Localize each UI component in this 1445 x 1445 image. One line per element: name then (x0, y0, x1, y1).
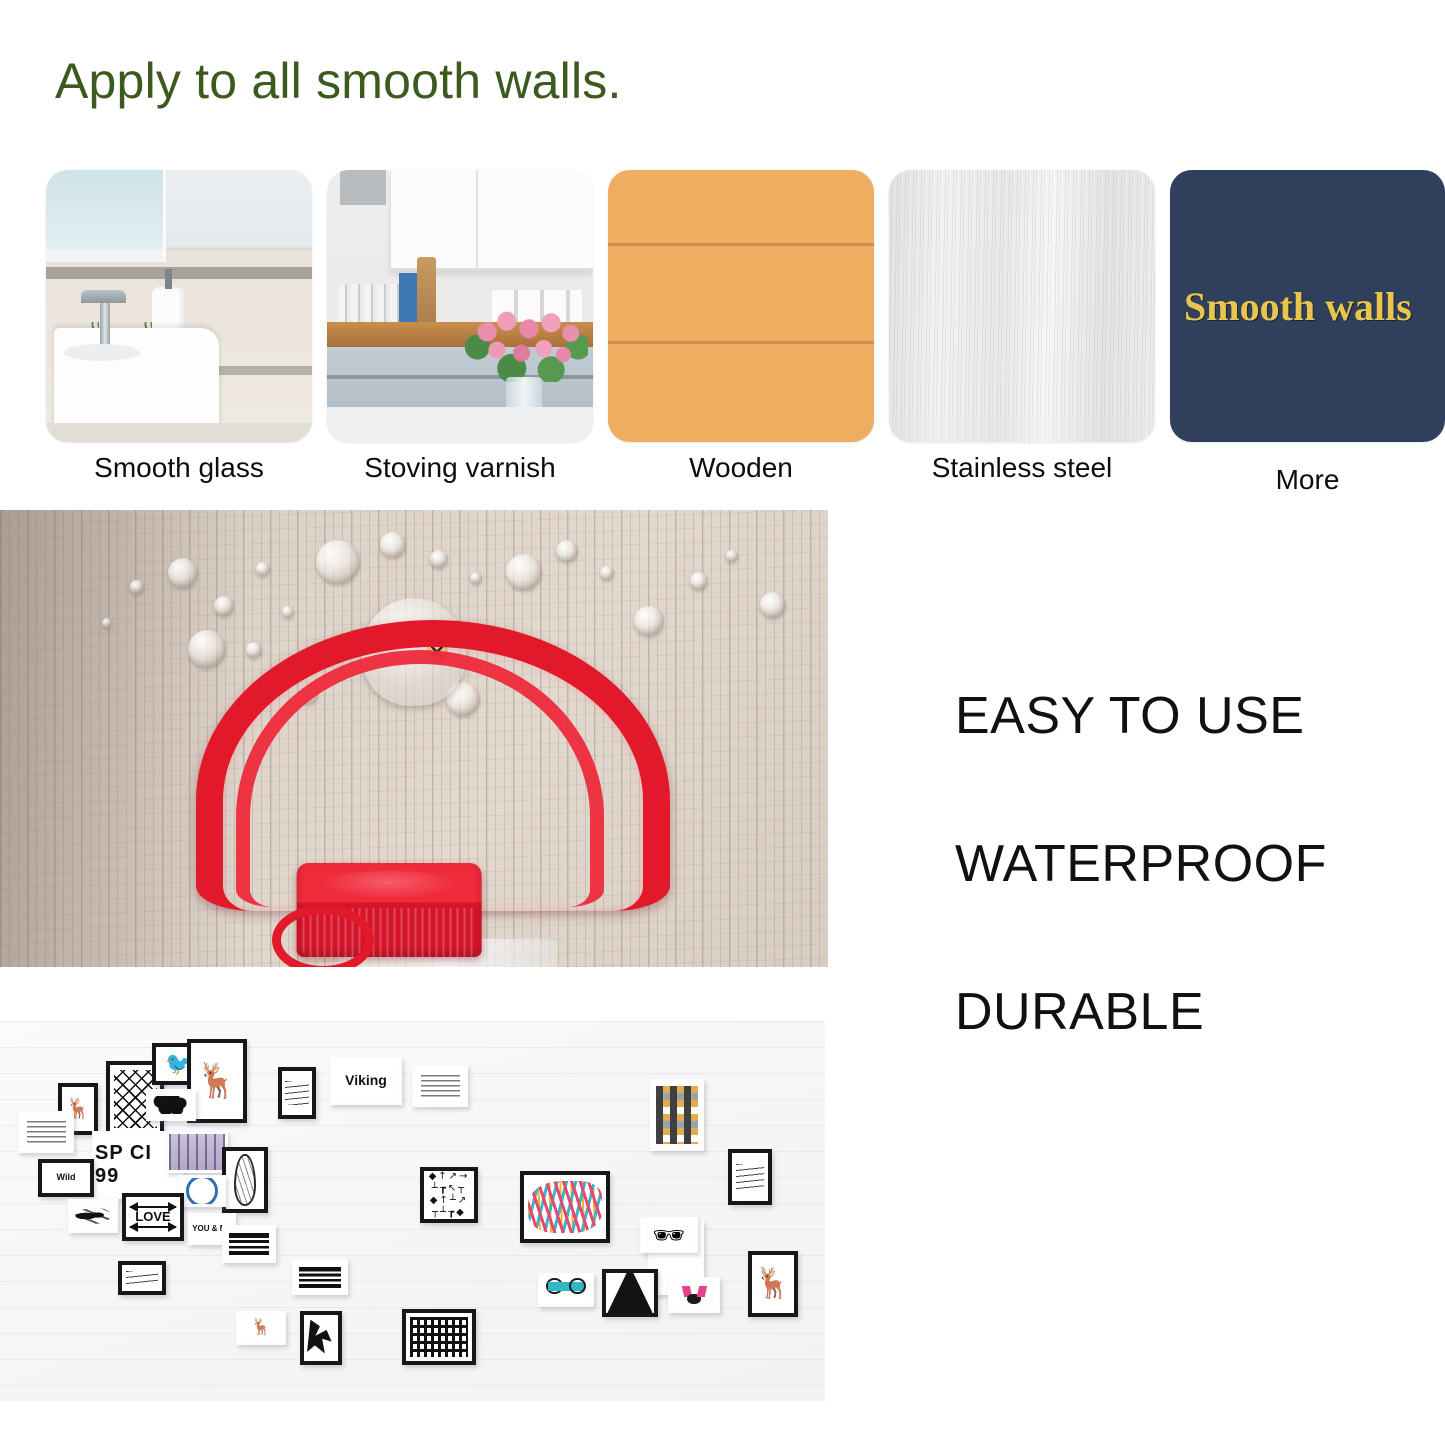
benefit-item: WATERPROOF (955, 834, 1425, 894)
benefit-item: DURABLE (955, 982, 1425, 1042)
frame-scribble-abstract (118, 1261, 166, 1295)
frame-love-arrows: LOVE (122, 1193, 184, 1241)
page-title: Apply to all smooth walls. (55, 52, 622, 110)
frame-barcode-small (222, 1225, 276, 1263)
frame-tree-scenery-papercut (402, 1309, 476, 1365)
benefit-item: EASY TO USE (955, 686, 1425, 746)
frame-color-checker-grid (650, 1079, 704, 1151)
material-tile-label: Stainless steel (889, 452, 1155, 484)
frame-purple-forest (166, 1131, 228, 1173)
frame-clock-face (728, 1149, 772, 1205)
benefits-list: EASY TO USE WATERPROOF DURABLE (955, 686, 1425, 1042)
frame-gallery-photo: 🦌 🐦 🦌 SP CI 99 Wild LOVE YOU & ME Viking (0, 1021, 825, 1401)
material-tile-stoving-varnish[interactable]: Stoving varnish (327, 170, 593, 442)
navy-swatch: Smooth walls (1170, 170, 1445, 442)
frame-pine-tree (602, 1269, 658, 1317)
material-tile-label: Wooden (608, 452, 874, 484)
frame-leaf-line-art (222, 1147, 268, 1213)
frame-french-bulldog (668, 1277, 720, 1313)
frame-shard-abstract (300, 1311, 342, 1365)
love-text: LOVE (135, 1210, 170, 1224)
frame-antlers-quote: 🦌 (187, 1039, 247, 1123)
frame-speckle-abstract (146, 1089, 196, 1121)
bathroom-sink-photo (46, 170, 312, 442)
frame-geometric-stag: 🦌 (748, 1251, 798, 1317)
frame-small-stag: 🦌 (236, 1311, 286, 1345)
frame-rainbow-zebra (520, 1171, 610, 1243)
frame-circle-sketch (278, 1067, 316, 1119)
material-tile-more[interactable]: Smooth walls More (1170, 170, 1445, 442)
frame-rune-alphabet: ◆↑↗→┴┲↖┬◆↑┴↗┬┴┲◆ (420, 1167, 478, 1223)
frame-small-text-block (412, 1065, 468, 1107)
frame-viking-typography: Viking (330, 1057, 402, 1105)
viking-text: Viking (345, 1073, 387, 1088)
wood-grain-swatch (608, 170, 874, 442)
brushed-steel-swatch (889, 170, 1155, 442)
material-tile-wooden[interactable]: Wooden (608, 170, 874, 442)
hook-waterproof-photo (0, 510, 828, 967)
material-tile-label: Stoving varnish (327, 452, 593, 484)
frame-calligraphy-note (18, 1111, 74, 1153)
frame-barcode-bars (292, 1259, 348, 1295)
frame-always-circle (178, 1175, 226, 1207)
material-tile-label: More (1170, 464, 1445, 496)
smooth-walls-badge-text: Smooth walls (1184, 283, 1412, 330)
wild-text: Wild (57, 1173, 76, 1183)
frame-abstract-bird (68, 1199, 118, 1233)
frame-bicycle-line-art (538, 1273, 594, 1307)
frame-wild-typography: Wild (38, 1159, 94, 1197)
material-tile-label: Smooth glass (46, 452, 312, 484)
material-tile-smooth-glass[interactable]: Smooth glass (46, 170, 312, 442)
material-tile-stainless-steel[interactable]: Stainless steel (889, 170, 1155, 442)
kitchen-cabinet-photo (327, 170, 593, 442)
red-bottle-carrier (196, 620, 616, 967)
material-tile-strip: Smooth glass Stoving varnish Wooden Stai… (0, 170, 1445, 500)
frame-mustache-glasses: 🕶 (640, 1217, 698, 1253)
